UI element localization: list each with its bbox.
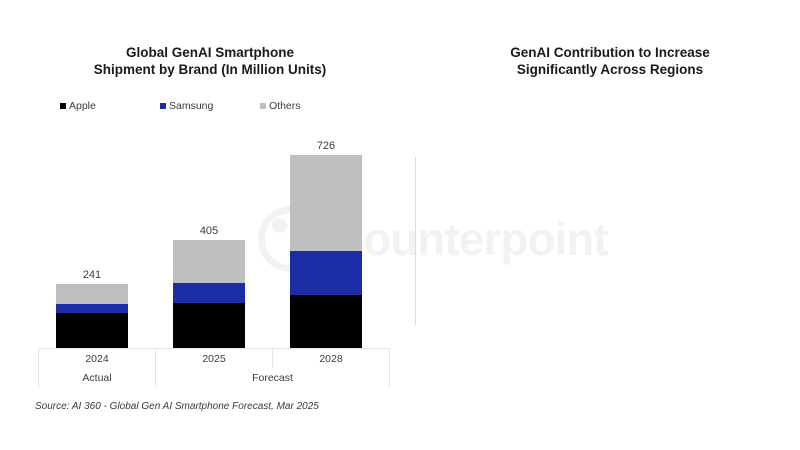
bar-x-group-actual: Actual xyxy=(38,368,155,387)
bar-segment-samsung-2025[interactable] xyxy=(173,283,245,303)
line-chart-title: GenAI Contribution to Increase Significa… xyxy=(420,44,800,78)
bar-stack-2024 xyxy=(56,284,128,348)
legend-item-others[interactable]: Others xyxy=(260,100,360,112)
bar-stack-2025 xyxy=(173,240,245,348)
bar-x-axis-group-row: Actual Forecast xyxy=(38,368,390,387)
bar-total-label-2028: 726 xyxy=(290,140,362,152)
bar-segment-apple-2024[interactable] xyxy=(56,313,128,348)
bar-segment-samsung-2024[interactable] xyxy=(56,304,128,314)
bar-total-label-2024: 241 xyxy=(56,269,128,281)
bar-chart-title-line2: Shipment by Brand (In Million Units) xyxy=(0,61,420,78)
bar-segment-apple-2028[interactable] xyxy=(290,295,362,348)
line-chart-title-line2: Significantly Across Regions xyxy=(420,61,800,78)
legend-label-apple: Apple xyxy=(69,100,96,112)
bar-x-label-2024: 2024 xyxy=(38,349,155,368)
bar-x-label-2025: 2025 xyxy=(155,349,272,368)
bar-chart-title: Global GenAI Smartphone Shipment by Bran… xyxy=(0,44,420,78)
bar-stack-2028 xyxy=(290,155,362,348)
bar-segment-samsung-2028[interactable] xyxy=(290,251,362,295)
legend-swatch-apple xyxy=(60,103,66,109)
legend-swatch-others xyxy=(260,103,266,109)
bar-x-axis-year-row: 2024 2025 2028 xyxy=(38,349,390,368)
legend-label-others: Others xyxy=(269,100,301,112)
bar-segment-others-2024[interactable] xyxy=(56,284,128,304)
bar-segment-others-2028[interactable] xyxy=(290,155,362,251)
legend-swatch-samsung xyxy=(160,103,166,109)
bar-chart-x-axis: 2024 2025 2028 Actual Forecast xyxy=(38,348,390,387)
bar-chart-title-line1: Global GenAI Smartphone xyxy=(0,44,420,61)
bar-chart-legend: Apple Samsung Others xyxy=(60,100,360,112)
bar-x-group-forecast: Forecast xyxy=(155,368,390,387)
line-chart-panel: GenAI Contribution to Increase Significa… xyxy=(420,0,800,450)
bar-segment-others-2025[interactable] xyxy=(173,240,245,283)
legend-label-samsung: Samsung xyxy=(169,100,213,112)
bar-segment-apple-2025[interactable] xyxy=(173,303,245,348)
bar-x-label-2028: 2028 xyxy=(272,349,390,368)
legend-item-samsung[interactable]: Samsung xyxy=(160,100,260,112)
bar-chart-plot-area: 241 405 726 xyxy=(38,130,390,348)
bar-chart-panel: Global GenAI Smartphone Shipment by Bran… xyxy=(0,0,420,450)
source-note: Source: AI 360 - Global Gen AI Smartphon… xyxy=(35,401,319,412)
line-chart-title-line1: GenAI Contribution to Increase xyxy=(420,44,800,61)
bar-total-label-2025: 405 xyxy=(173,225,245,237)
legend-item-apple[interactable]: Apple xyxy=(60,100,160,112)
